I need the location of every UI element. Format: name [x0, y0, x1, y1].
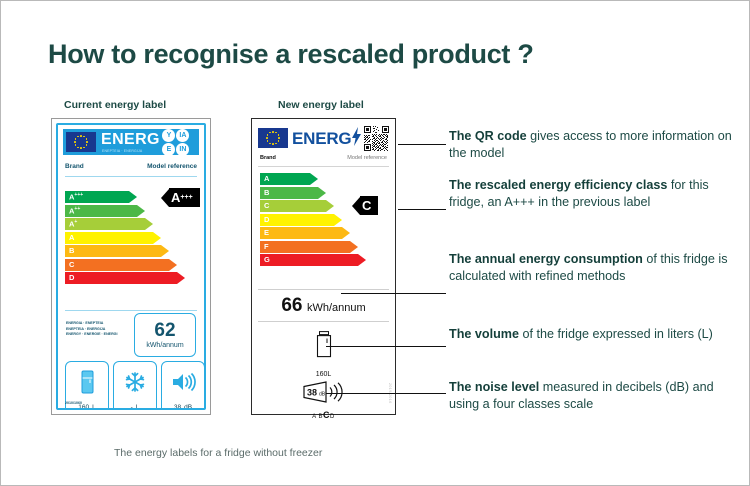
circle-letter: E — [162, 143, 175, 156]
new-noise-block: 38 dB A BCD — [252, 381, 395, 420]
annotation-energy-class: The rescaled energy efficiency class for… — [449, 177, 739, 210]
eu-star-icon — [269, 143, 271, 145]
eu-star-icon — [86, 138, 88, 140]
energy-class-label: A — [65, 234, 74, 242]
eu-star-icon — [278, 140, 280, 142]
new-consumption-unit: kWh/annum — [307, 302, 366, 314]
new-label-header: ENERG — [258, 125, 389, 151]
new-class-pointer: C — [352, 196, 378, 215]
eu-star-icon — [267, 134, 269, 136]
divider — [65, 310, 197, 311]
eu-star-icon — [86, 141, 88, 143]
eu-flag-icon — [66, 132, 96, 152]
energ-wordmark: ENERG — [292, 130, 351, 147]
energy-class-sup: +++ — [74, 192, 83, 198]
bar-tip-icon — [310, 173, 318, 185]
divider — [258, 166, 389, 167]
volume-unit: L — [327, 371, 331, 378]
current-noise-value: 38 dB — [174, 401, 192, 410]
bar-tip-icon — [137, 205, 145, 217]
energy-class-label: C — [260, 202, 269, 210]
infographic-canvas: How to recognise a rescaled product ? Cu… — [0, 0, 750, 486]
bar-tip-icon — [334, 214, 342, 226]
annotation-rest: of the fridge expressed in liters (L) — [519, 327, 713, 341]
pointer-tip-icon — [161, 189, 169, 207]
leader-line-class — [398, 209, 446, 210]
energy-class-bar: D — [65, 272, 185, 284]
noise-scale-current: C — [323, 410, 330, 420]
circle-letter: IN — [176, 143, 189, 156]
lightning-bolt-icon — [352, 127, 361, 150]
volume-number: 160 — [316, 371, 328, 378]
new-volume-block: 160L — [252, 331, 395, 379]
noise-unit: dB — [184, 404, 192, 410]
energy-class-bar: C — [65, 259, 185, 271]
new-consumption: 66 kWh/annum — [252, 295, 395, 317]
leader-line-qr — [398, 144, 446, 145]
model-reference-label: Model reference — [347, 155, 387, 161]
current-consumption-box: 62 kWh/annum — [134, 313, 196, 357]
volume-unit: L — [92, 404, 96, 410]
energy-class-bar: E — [260, 227, 366, 239]
eu-star-icon — [272, 131, 274, 133]
energy-class-bar: B — [260, 187, 366, 199]
new-label-heading: New energy label — [278, 99, 364, 111]
eu-star-icon — [266, 137, 268, 139]
energy-class-label: A++ — [65, 207, 80, 215]
qr-code-icon — [364, 126, 389, 151]
annotation-bold: The annual energy consumption — [449, 252, 643, 266]
current-freezer-value: - L — [131, 401, 140, 410]
energy-class-label: A+ — [65, 220, 77, 228]
svg-text:38: 38 — [307, 388, 317, 398]
noise-number: 38 — [174, 404, 181, 410]
current-energy-label: ENERG ENEPTEIA · ENERGIJA Y IA E IN Bran… — [51, 118, 211, 415]
fridge-icon — [316, 331, 332, 363]
eu-star-icon — [77, 147, 79, 149]
brand-label: Brand — [65, 163, 84, 170]
page-title: How to recognise a rescaled product ? — [48, 39, 534, 70]
eu-star-icon — [275, 143, 277, 145]
energy-class-label: A — [260, 175, 269, 183]
eu-star-icon — [278, 137, 280, 139]
energy-class-label: B — [260, 189, 269, 197]
eu-star-icon — [269, 132, 271, 134]
eu-star-icon — [275, 132, 277, 134]
speaker-icon: 38 dB — [302, 381, 346, 408]
pointer-class-letter: C — [362, 199, 371, 212]
eu-star-icon — [83, 147, 85, 149]
energy-class-label: F — [260, 243, 269, 251]
pointer-tip-icon — [352, 197, 360, 215]
model-reference-label: Model reference — [147, 163, 197, 170]
eu-star-icon — [86, 144, 88, 146]
annotation-bold: The QR code — [449, 129, 527, 143]
energy-class-bar: A — [65, 232, 185, 244]
eu-star-icon — [75, 144, 77, 146]
noise-scale-after: D — [330, 414, 335, 420]
bar-tip-icon — [318, 187, 326, 199]
eu-star-icon — [272, 143, 274, 145]
energy-class-bar: C — [260, 200, 366, 212]
freezer-number: - — [131, 404, 133, 410]
energ-wordmark: ENERG — [101, 132, 160, 148]
eu-flag-icon — [258, 128, 288, 148]
annotation-qr-code: The QR code gives access to more informa… — [449, 128, 739, 161]
energy-class-label: E — [260, 229, 269, 237]
leader-line-noise — [326, 393, 446, 394]
speaker-icon — [162, 362, 204, 401]
bar-tip-icon — [161, 245, 169, 257]
brand-label: Brand — [260, 155, 276, 161]
eu-star-icon — [75, 138, 77, 140]
annotation-annual-consumption: The annual energy consumption of this fr… — [449, 251, 739, 284]
annotation-bold: The noise level — [449, 380, 539, 394]
current-regulation-number: 2010/1060 — [65, 401, 82, 405]
energy-class-bar: B — [65, 245, 185, 257]
eu-star-icon — [74, 141, 76, 143]
current-consumption-value: 62 — [154, 321, 175, 340]
fridge-icon — [66, 362, 108, 401]
annotation-bold: The volume — [449, 327, 519, 341]
circle-letter: IA — [176, 129, 189, 142]
energy-class-sup: + — [74, 219, 77, 225]
bar-tip-icon — [169, 259, 177, 271]
new-volume-value: 160L — [316, 367, 332, 379]
bar-tip-icon — [153, 232, 161, 244]
bar-tip-icon — [177, 272, 185, 284]
current-label-heading: Current energy label — [64, 99, 166, 111]
energy-class-label: A+++ — [65, 193, 83, 201]
current-freezer-cell: - L — [113, 361, 157, 410]
current-label-header: ENERG ENEPTEIA · ENERGIJA Y IA E IN — [63, 129, 199, 155]
current-language-list: ENERGIA · ENEPTEIA ENEPTEIA · ENERGIJA E… — [66, 321, 117, 338]
new-class-scale: ABCDEFG — [260, 173, 366, 268]
energy-class-bar: G — [260, 254, 366, 266]
noise-scale-before: A B — [312, 414, 323, 420]
energy-class-label: C — [65, 261, 74, 269]
energy-class-label: B — [65, 247, 74, 255]
energy-class-sup: ++ — [74, 206, 80, 212]
new-consumption-value: 66 — [281, 295, 302, 316]
pointer-class-sup: +++ — [180, 194, 192, 201]
divider — [65, 176, 197, 177]
freezer-unit: L — [136, 404, 140, 410]
pointer-class-letter: A — [171, 191, 180, 204]
energy-class-bar: F — [260, 241, 366, 253]
energy-class-bar: A — [260, 173, 366, 185]
bar-tip-icon — [129, 191, 137, 203]
new-brand-row: Brand Model reference — [260, 155, 387, 161]
current-noise-cell: 38 dB — [161, 361, 205, 410]
current-consumption-unit: kWh/annum — [146, 342, 183, 349]
energy-class-label: D — [65, 274, 74, 282]
eu-star-icon — [80, 135, 82, 137]
circle-letter: Y — [162, 129, 175, 142]
bar-tip-icon — [326, 200, 334, 212]
annotation-bold: The rescaled energy efficiency class — [449, 178, 667, 192]
eu-star-icon — [80, 147, 82, 149]
bar-tip-icon — [342, 227, 350, 239]
eu-star-icon — [83, 136, 85, 138]
leader-line-energy — [341, 293, 446, 294]
figure-caption: The energy labels for a fridge without f… — [114, 447, 322, 459]
eu-star-icon — [267, 140, 269, 142]
bar-tip-icon — [145, 218, 153, 230]
language-line: ENERGY · ENERGIE · ENERGI — [66, 332, 117, 338]
bar-tip-icon — [350, 241, 358, 253]
bar-tip-icon — [358, 254, 366, 266]
energ-wordmark-sub: ENEPTEIA · ENERGIJA — [102, 149, 160, 153]
energy-class-bar: A+ — [65, 218, 185, 230]
noise-class-scale: A BCD — [312, 410, 335, 420]
eu-star-icon — [278, 134, 280, 136]
current-brand-row: Brand Model reference — [65, 163, 197, 170]
annotation-volume: The volume of the fridge expressed in li… — [449, 326, 739, 343]
energy-class-label: G — [260, 256, 270, 264]
energy-letter-circles: Y IA E IN — [162, 128, 192, 156]
current-class-pointer: A+++ — [161, 188, 200, 207]
energy-class-bar: D — [260, 214, 366, 226]
divider — [258, 321, 389, 322]
new-energy-label: ENERG — [251, 118, 396, 415]
snowflake-icon — [114, 362, 156, 401]
energy-class-label: D — [260, 216, 269, 224]
eu-star-icon — [77, 136, 79, 138]
leader-line-volume — [326, 346, 446, 347]
annotation-noise-level: The noise level measured in decibels (dB… — [449, 379, 739, 412]
svg-text:dB: dB — [319, 392, 326, 398]
divider — [258, 289, 389, 290]
